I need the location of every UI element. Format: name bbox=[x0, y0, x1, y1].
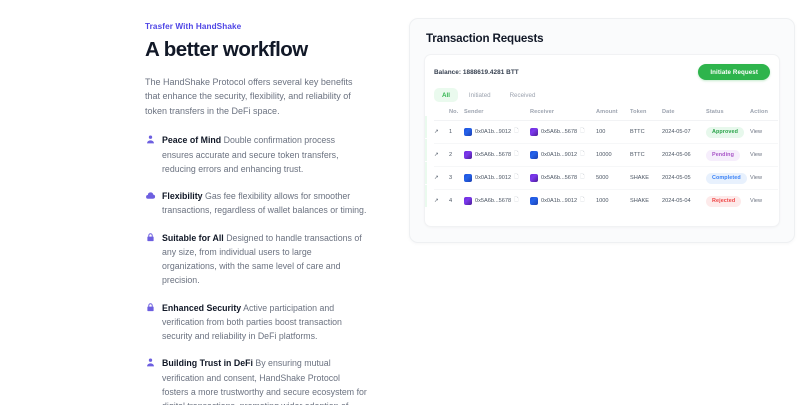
benefit-item: Suitable for All Designed to handle tran… bbox=[145, 231, 370, 288]
sender-address: 0x0A1b...9012 bbox=[475, 129, 511, 135]
cell-token: BTTC bbox=[630, 144, 662, 167]
view-link[interactable]: View bbox=[750, 198, 762, 204]
benefit-text: Peace of Mind Double confirmation proces… bbox=[162, 133, 367, 176]
cell-date: 2024-05-04 bbox=[662, 190, 706, 213]
copy-icon[interactable]: 🗋 bbox=[580, 129, 584, 134]
status-badge: Rejected bbox=[706, 196, 741, 207]
receiver-address: 0x0A1b...9012 bbox=[541, 198, 577, 204]
page-title: A better workflow bbox=[145, 38, 370, 62]
copy-icon[interactable]: 🗋 bbox=[580, 198, 584, 203]
page-root: Trasfer With HandShake A better workflow… bbox=[0, 0, 806, 405]
view-link[interactable]: View bbox=[750, 129, 762, 135]
cell-receiver: 0x5A6b...5678🗋 bbox=[530, 121, 596, 144]
direction-arrow-icon: ↗ bbox=[434, 144, 449, 167]
view-link[interactable]: View bbox=[750, 175, 762, 181]
cell-sender: 0x5A6b...5678🗋 bbox=[464, 190, 530, 213]
transaction-panel: Transaction Requests Balance: 1888619.42… bbox=[409, 18, 795, 243]
receiver-avatar bbox=[530, 151, 538, 159]
benefit-title: Peace of Mind bbox=[162, 135, 221, 145]
benefit-title: Building Trust in DeFi bbox=[162, 358, 253, 368]
balance-label: Balance: 1888619.4281 BTT bbox=[434, 69, 519, 76]
cell-token: SHAKE bbox=[630, 190, 662, 213]
cell-sender: 0x0A1b...9012🗋 bbox=[464, 121, 530, 144]
cell-amount: 100 bbox=[596, 121, 630, 144]
status-badge: Approved bbox=[706, 127, 744, 138]
tab-initiated[interactable]: Initiated bbox=[461, 88, 499, 102]
sender-avatar bbox=[464, 174, 472, 182]
direction-arrow-icon: ↗ bbox=[434, 121, 449, 144]
cell-token: SHAKE bbox=[630, 167, 662, 190]
requests-card: Balance: 1888619.4281 BTT Initiate Reque… bbox=[424, 54, 780, 227]
sender-address: 0x5A6b...5678 bbox=[475, 198, 511, 204]
cell-date: 2024-05-06 bbox=[662, 144, 706, 167]
receiver-address: 0x0A1b...9012 bbox=[541, 152, 577, 158]
copy-icon[interactable]: 🗋 bbox=[580, 175, 584, 180]
requests-table: No.SenderReceiverAmountTokenDateStatusAc… bbox=[434, 109, 778, 212]
table-row[interactable]: ↗10x0A1b...9012🗋0x5A6b...5678🗋100BTTC202… bbox=[434, 121, 778, 144]
column-header-token: Token bbox=[630, 109, 662, 121]
cell-status: Pending bbox=[706, 144, 750, 167]
direction-arrow-icon: ↗ bbox=[434, 190, 449, 213]
cell-receiver: 0x0A1b...9012🗋 bbox=[530, 190, 596, 213]
table-row[interactable]: ↗20x5A6b...5678🗋0x0A1b...9012🗋10000BTTC2… bbox=[434, 144, 778, 167]
benefit-item: Enhanced Security Active participation a… bbox=[145, 301, 370, 344]
column-header-receiver: Receiver bbox=[530, 109, 596, 121]
column-header-action: Action bbox=[750, 109, 778, 121]
balance-row: Balance: 1888619.4281 BTT Initiate Reque… bbox=[434, 64, 770, 80]
benefit-item: Building Trust in DeFi By ensuring mutua… bbox=[145, 356, 370, 405]
benefit-list: Peace of Mind Double confirmation proces… bbox=[145, 133, 370, 405]
cell-action: View bbox=[750, 121, 778, 144]
receiver-address: 0x5A6b...5678 bbox=[541, 129, 577, 135]
receiver-address: 0x5A6b...5678 bbox=[541, 175, 577, 181]
column-header-status: Status bbox=[706, 109, 750, 121]
sender-avatar bbox=[464, 128, 472, 136]
eyebrow-label: Trasfer With HandShake bbox=[145, 22, 370, 31]
benefit-text: Enhanced Security Active participation a… bbox=[162, 301, 367, 344]
panel-title: Transaction Requests bbox=[426, 32, 780, 45]
sender-address: 0x0A1b...9012 bbox=[475, 175, 511, 181]
cell-status: Approved bbox=[706, 121, 750, 144]
copy-icon[interactable]: 🗋 bbox=[514, 175, 518, 180]
column-header-select bbox=[434, 109, 449, 121]
table-row[interactable]: ↗40x5A6b...5678🗋0x0A1b...9012🗋1000SHAKE2… bbox=[434, 190, 778, 213]
table-header-row: No.SenderReceiverAmountTokenDateStatusAc… bbox=[434, 109, 778, 121]
benefit-item: Peace of Mind Double confirmation proces… bbox=[145, 133, 370, 176]
tab-all[interactable]: All bbox=[434, 88, 458, 102]
cloud-icon bbox=[145, 190, 156, 201]
cell-action: View bbox=[750, 167, 778, 190]
cell-receiver: 0x5A6b...5678🗋 bbox=[530, 167, 596, 190]
cell-no: 2 bbox=[449, 144, 464, 167]
person-icon bbox=[145, 134, 156, 145]
cell-sender: 0x5A6b...5678🗋 bbox=[464, 144, 530, 167]
cell-receiver: 0x0A1b...9012🗋 bbox=[530, 144, 596, 167]
person-icon bbox=[145, 357, 156, 368]
table-body: ↗10x0A1b...9012🗋0x5A6b...5678🗋100BTTC202… bbox=[434, 121, 778, 213]
lock-icon bbox=[145, 232, 156, 243]
marketing-column: Trasfer With HandShake A better workflow… bbox=[0, 0, 400, 405]
receiver-avatar bbox=[530, 128, 538, 136]
cell-date: 2024-05-07 bbox=[662, 121, 706, 144]
cell-amount: 1000 bbox=[596, 190, 630, 213]
status-badge: Completed bbox=[706, 173, 747, 184]
benefit-title: Enhanced Security bbox=[162, 303, 241, 313]
copy-icon[interactable]: 🗋 bbox=[514, 152, 518, 157]
intro-paragraph: The HandShake Protocol offers several ke… bbox=[145, 75, 360, 119]
copy-icon[interactable]: 🗋 bbox=[580, 152, 584, 157]
cell-action: View bbox=[750, 190, 778, 213]
view-link[interactable]: View bbox=[750, 152, 762, 158]
tab-received[interactable]: Received bbox=[502, 88, 544, 102]
benefit-text: Building Trust in DeFi By ensuring mutua… bbox=[162, 356, 367, 405]
cell-amount: 10000 bbox=[596, 144, 630, 167]
cell-sender: 0x0A1b...9012🗋 bbox=[464, 167, 530, 190]
cell-date: 2024-05-05 bbox=[662, 167, 706, 190]
cell-no: 4 bbox=[449, 190, 464, 213]
benefit-item: Flexibility Gas fee flexibility allows f… bbox=[145, 189, 370, 218]
benefit-text: Flexibility Gas fee flexibility allows f… bbox=[162, 189, 367, 218]
column-header-sender: Sender bbox=[464, 109, 530, 121]
cell-status: Rejected bbox=[706, 190, 750, 213]
cell-status: Completed bbox=[706, 167, 750, 190]
table-row[interactable]: ↗30x0A1b...9012🗋0x5A6b...5678🗋5000SHAKE2… bbox=[434, 167, 778, 190]
sender-avatar bbox=[464, 151, 472, 159]
panel-card: Transaction Requests Balance: 1888619.42… bbox=[409, 18, 795, 243]
cell-no: 3 bbox=[449, 167, 464, 190]
copy-icon[interactable]: 🗋 bbox=[514, 198, 518, 203]
filter-tabs: AllInitiatedReceived bbox=[434, 88, 770, 102]
direction-arrow-icon: ↗ bbox=[434, 167, 449, 190]
copy-icon[interactable]: 🗋 bbox=[514, 129, 518, 134]
receiver-avatar bbox=[530, 197, 538, 205]
benefit-title: Flexibility bbox=[162, 191, 203, 201]
lock-icon bbox=[145, 302, 156, 313]
cell-action: View bbox=[750, 144, 778, 167]
column-header-date: Date bbox=[662, 109, 706, 121]
sender-address: 0x5A6b...5678 bbox=[475, 152, 511, 158]
cell-token: BTTC bbox=[630, 121, 662, 144]
benefit-text: Suitable for All Designed to handle tran… bbox=[162, 231, 367, 288]
receiver-avatar bbox=[530, 174, 538, 182]
cell-amount: 5000 bbox=[596, 167, 630, 190]
column-header-amount: Amount bbox=[596, 109, 630, 121]
cell-no: 1 bbox=[449, 121, 464, 144]
sender-avatar bbox=[464, 197, 472, 205]
initiate-request-button[interactable]: Initiate Request bbox=[698, 64, 770, 80]
column-header-no: No. bbox=[449, 109, 464, 121]
status-badge: Pending bbox=[706, 150, 740, 161]
benefit-title: Suitable for All bbox=[162, 233, 224, 243]
